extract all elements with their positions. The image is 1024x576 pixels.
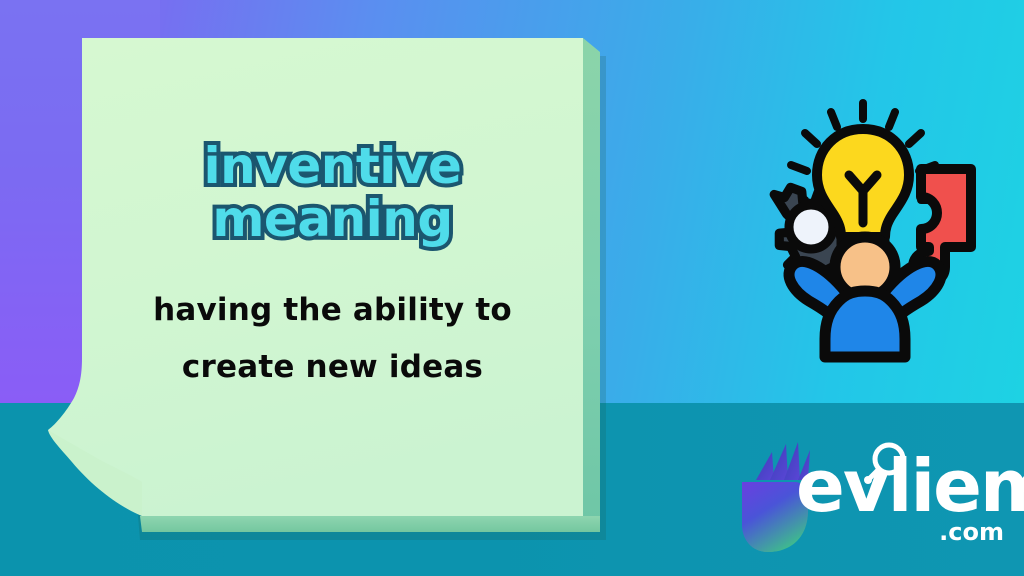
card-body-line-2: create new ideas (122, 339, 543, 396)
card-title: inventive meaning (82, 140, 583, 245)
card-right-edge (583, 38, 600, 530)
card-bottom-edge (140, 516, 600, 532)
poster-canvas: inventive meaning inventive meaning havi… (0, 0, 1024, 576)
brand-logo[interactable]: evliem .com (712, 432, 1012, 552)
logo-suffix: .com (939, 518, 1004, 546)
card-body-line-1: having the ability to (122, 282, 543, 339)
card-face (48, 38, 583, 516)
logo-wordmark: evliem (796, 450, 1024, 522)
idea-illustration (735, 95, 985, 365)
card-body-text: having the ability to create new ideas (82, 282, 583, 397)
